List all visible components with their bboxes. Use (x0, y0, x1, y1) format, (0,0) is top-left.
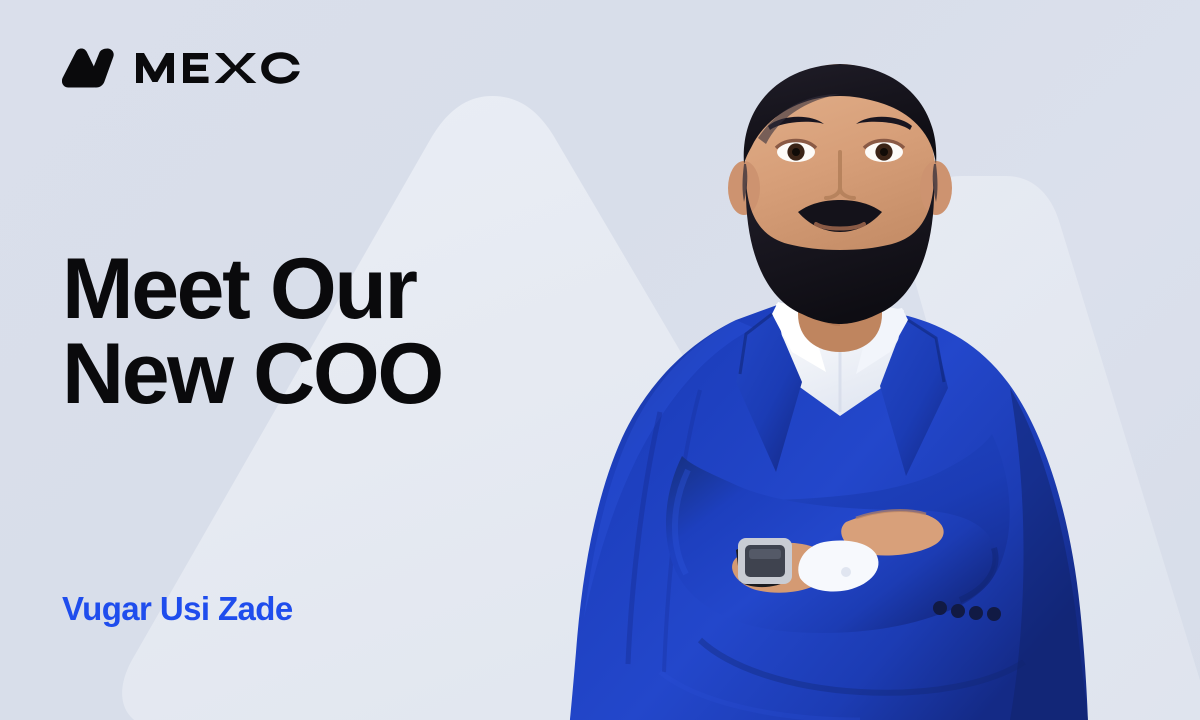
headline-line-1: Meet Our (62, 241, 416, 337)
mexc-wordmark (134, 51, 306, 85)
page-title: Meet Our New COO (62, 247, 442, 417)
person-name: Vugar Usi Zade (62, 590, 293, 628)
wristwatch (736, 538, 792, 587)
mexc-logo[interactable] (62, 46, 306, 90)
headline-line-2: New COO (62, 326, 442, 422)
mexc-triangle-mark-icon (62, 46, 120, 90)
cuff-button (841, 567, 851, 577)
person-portrait (540, 52, 1120, 720)
announcement-banner: Meet Our New COO Vugar Usi Zade (0, 0, 1200, 720)
head (728, 64, 952, 324)
